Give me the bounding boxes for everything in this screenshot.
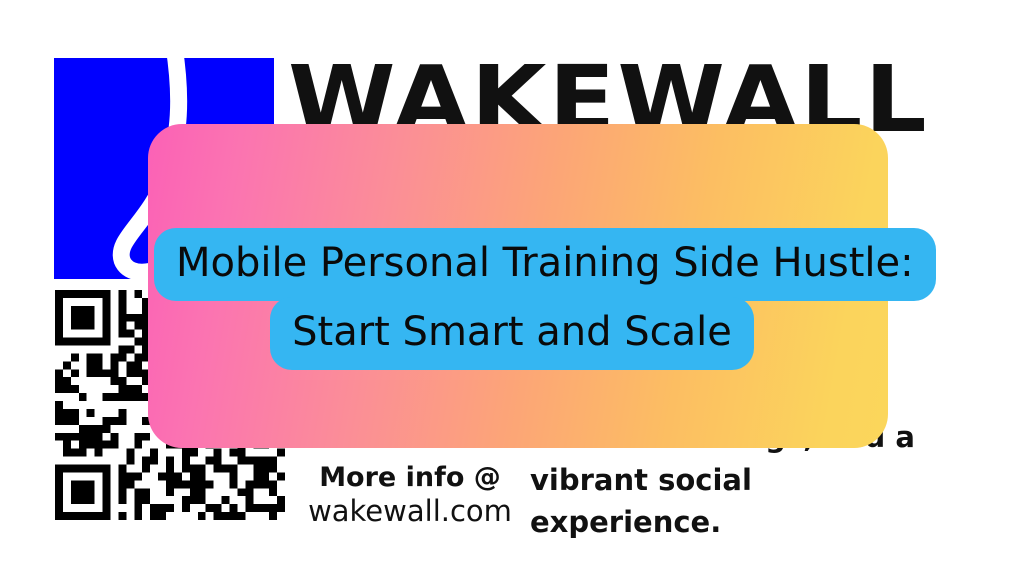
promo-card-canvas: WAKEWALL w ces, business listings, and a…	[0, 0, 1024, 576]
headline-line-2-text: Start Smart and Scale	[270, 297, 754, 370]
more-info-url[interactable]: wakewall.com	[300, 494, 520, 528]
headline-line-1-text: Mobile Personal Training Side Hustle:	[154, 228, 936, 301]
headline-line-2: Start Smart and Scale	[154, 297, 870, 370]
more-info-label: More info @	[300, 462, 520, 494]
headline-line-1: Mobile Personal Training Side Hustle:	[154, 228, 870, 301]
blurb-line-3: vibrant social experience.	[530, 459, 950, 544]
headline-text-block: Mobile Personal Training Side Hustle: St…	[154, 228, 870, 370]
more-info-block: More info @ wakewall.com	[300, 462, 520, 528]
